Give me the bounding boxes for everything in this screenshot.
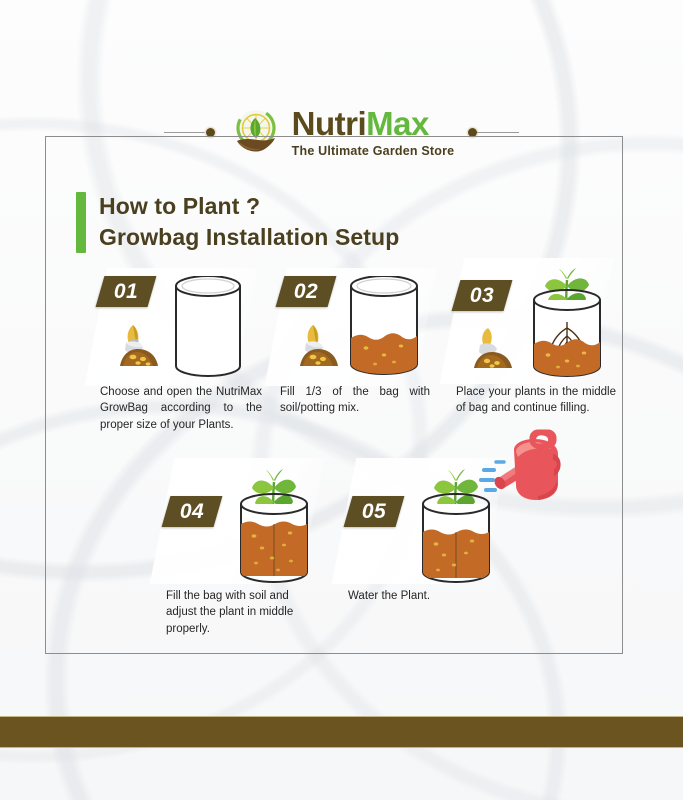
step-01-badge: 01 xyxy=(96,276,157,307)
step-02-badge: 02 xyxy=(276,276,337,307)
step-04-number: 04 xyxy=(180,500,204,524)
growbag-filled-with-plant xyxy=(234,466,314,593)
rule-line-right xyxy=(477,132,519,133)
step-05-visual: 05 xyxy=(348,466,503,588)
trowel-with-soil-icon xyxy=(470,314,534,370)
step-02-visual: 02 xyxy=(280,276,430,384)
step-04: 04 xyxy=(166,466,321,637)
growbag-third-filled xyxy=(346,276,422,383)
step-03-number: 03 xyxy=(470,284,494,308)
page-title-line1: How to Plant ? xyxy=(99,192,399,221)
step-04-badge: 04 xyxy=(162,496,223,527)
step-02-number: 02 xyxy=(294,280,318,304)
step-01-number: 01 xyxy=(114,280,138,304)
step-04-text: Fill the bag with soil and adjust the pl… xyxy=(166,588,321,637)
step-05: 05 xyxy=(348,466,503,604)
rule-line-left xyxy=(164,132,206,133)
step-03-visual: 03 xyxy=(456,266,616,384)
watering-can-icon xyxy=(470,424,566,521)
step-01-text: Choose and open the NutriMax GrowBag acc… xyxy=(100,384,262,433)
title-accent-bar xyxy=(76,192,86,253)
step-01: 01 Choose and op xyxy=(100,276,262,433)
step-05-badge: 05 xyxy=(344,496,405,527)
step-03: 03 xyxy=(456,266,616,417)
trowel-with-soil-icon xyxy=(116,312,180,368)
growbag-empty xyxy=(172,276,244,383)
step-02: 02 xyxy=(280,276,430,417)
step-03-badge: 03 xyxy=(452,280,513,311)
page-title-line2: Growbag Installation Setup xyxy=(99,223,399,252)
page-title: How to Plant ? Growbag Installation Setu… xyxy=(76,192,399,253)
step-01-visual: 01 xyxy=(100,276,262,384)
step-04-visual: 04 xyxy=(166,466,321,588)
growbag-with-seedling xyxy=(528,266,606,389)
step-05-number: 05 xyxy=(362,500,386,524)
brand-name: NutriMax xyxy=(292,107,455,140)
bottom-bar xyxy=(0,716,683,748)
step-02-text: Fill 1/3 of the bag with soil/potting mi… xyxy=(280,384,430,417)
